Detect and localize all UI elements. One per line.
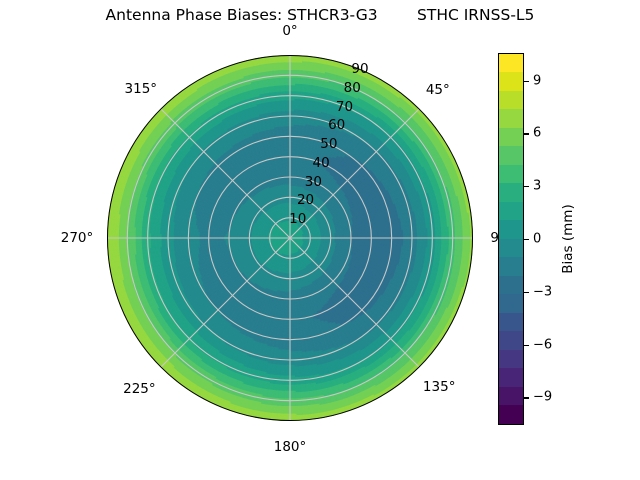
colorbar-tick-mark <box>524 239 529 240</box>
figure-canvas: Antenna Phase Biases: STHCR3-G3 STHC IRN… <box>0 0 640 480</box>
colorbar-tick-mark <box>524 292 529 293</box>
colorbar-segment <box>499 146 523 164</box>
radial-tick-label: 50 <box>320 136 337 152</box>
radial-tick-label: 10 <box>289 211 306 227</box>
colorbar-segment <box>499 72 523 90</box>
colorbar-tick-label: 0 <box>533 232 541 247</box>
radial-tick-label: 60 <box>328 117 345 133</box>
colorbar-tick-label: −3 <box>533 284 552 299</box>
colorbar-segment <box>499 183 523 201</box>
colorbar-tick-label: −9 <box>533 390 552 405</box>
colorbar-segment <box>499 202 523 220</box>
colorbar-segment <box>499 220 523 238</box>
colorbar-segment <box>499 350 523 368</box>
polar-contour-plot <box>107 55 473 421</box>
colorbar-tick-mark <box>524 345 529 346</box>
colorbar-segment <box>499 331 523 349</box>
colorbar-segment <box>499 405 523 423</box>
colorbar-tick-mark <box>524 186 529 187</box>
colorbar-segment <box>499 165 523 183</box>
radial-tick-label: 90 <box>351 61 368 77</box>
colorbar-segment <box>499 313 523 331</box>
colorbar-tick-label: 6 <box>533 126 541 141</box>
colorbar-segment <box>499 276 523 294</box>
colorbar-segment <box>499 387 523 405</box>
colorbar-tick-mark <box>524 81 529 82</box>
angular-tick-label: 135° <box>423 379 456 395</box>
colorbar-segment <box>499 257 523 275</box>
radial-tick-label: 20 <box>297 192 314 208</box>
colorbar-segment <box>499 294 523 312</box>
colorbar[interactable]: 9630−3−6−9 Bias (mm) <box>498 53 618 425</box>
polar-gridlines <box>107 55 473 421</box>
radial-tick-label: 70 <box>336 99 353 115</box>
polar-axes[interactable]: 0°45°90135°180°225°270°315° 102030405060… <box>107 55 473 421</box>
angular-tick-label: 45° <box>426 82 450 98</box>
page-title: Antenna Phase Biases: STHCR3-G3 STHC IRN… <box>0 6 640 24</box>
colorbar-tick-label: −6 <box>533 337 552 352</box>
colorbar-segment <box>499 128 523 146</box>
angular-tick-label: 315° <box>125 81 158 97</box>
radial-tick-label: 30 <box>305 174 322 190</box>
angular-tick-label: 180° <box>274 439 307 455</box>
colorbar-segment <box>499 109 523 127</box>
colorbar-segment <box>499 54 523 72</box>
colorbar-tick-label: 3 <box>533 179 541 194</box>
radial-tick-label: 40 <box>313 155 330 171</box>
radial-tick-label: 80 <box>344 80 361 96</box>
angular-tick-label: 225° <box>123 381 156 397</box>
colorbar-tick-mark <box>524 133 529 134</box>
colorbar-tick-label: 9 <box>533 73 541 88</box>
colorbar-segment <box>499 239 523 257</box>
polar-data-surface <box>107 55 473 421</box>
colorbar-segment <box>499 368 523 386</box>
colorbar-segment <box>499 91 523 109</box>
angular-tick-label: 0° <box>282 23 297 39</box>
colorbar-gradient <box>498 53 524 425</box>
colorbar-axis-label: Bias (mm) <box>560 204 576 273</box>
colorbar-tick-mark <box>524 397 529 398</box>
angular-tick-label: 270° <box>61 230 94 246</box>
